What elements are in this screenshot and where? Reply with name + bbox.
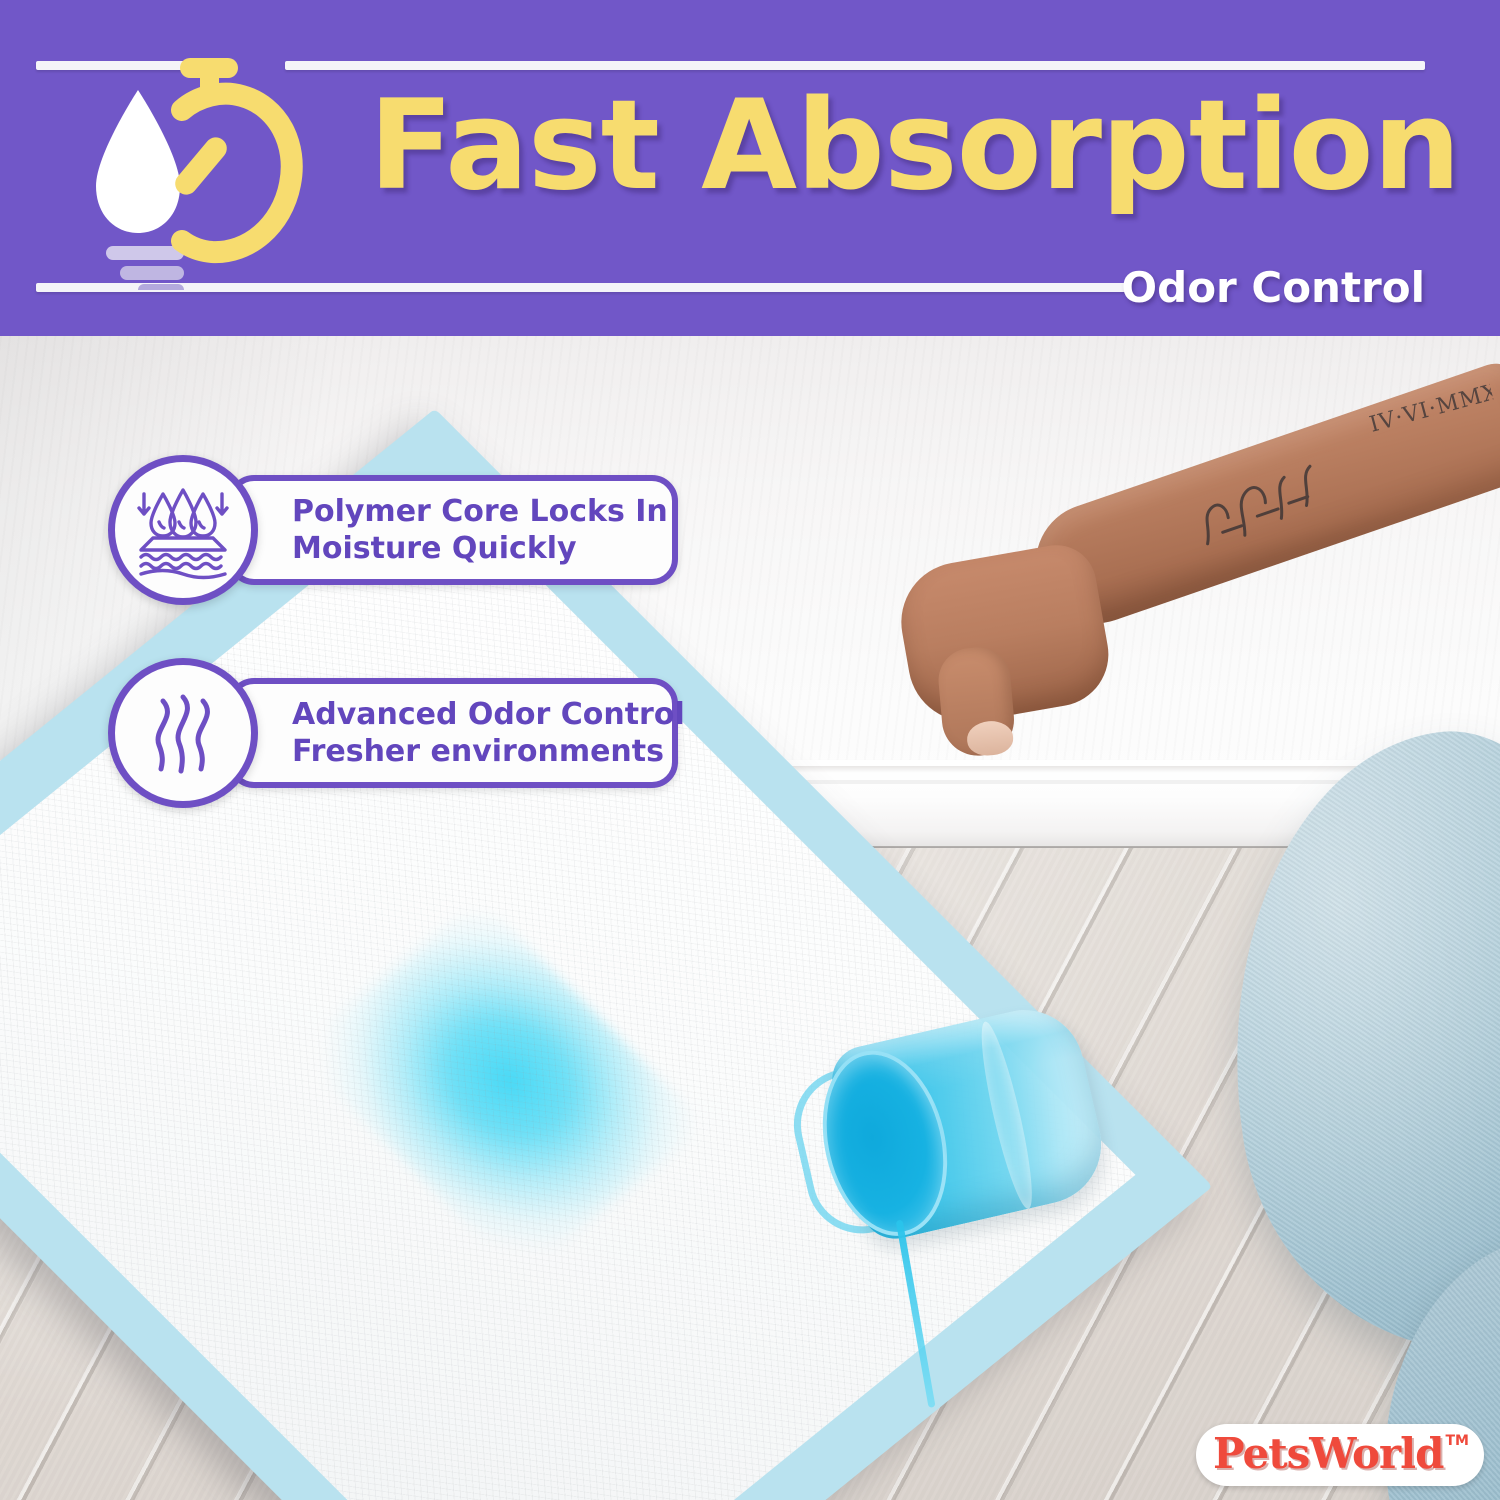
top-rule-right	[285, 61, 1425, 70]
feature-badge-polymer-core[interactable]: Polymer Core Locks In Moisture Quickly	[108, 455, 678, 605]
trademark-symbol: TM	[1445, 1433, 1468, 1449]
feature-badge-icon-circle	[108, 455, 258, 605]
banner-title: Fast Absorption	[360, 84, 1460, 208]
feature-badge-line1: Advanced Odor Control	[292, 696, 672, 734]
feature-badge-line2: Fresher environments	[292, 733, 672, 771]
brand-logo: PetsWorld TM	[1196, 1424, 1484, 1486]
absorbed-liquid-stain	[293, 899, 707, 1277]
feature-badge-pill: Polymer Core Locks In Moisture Quickly	[228, 475, 678, 585]
feature-badge-icon-circle	[108, 658, 258, 808]
pitcher-highlight	[973, 1019, 1042, 1212]
droplets-absorbing-layers-icon	[131, 478, 235, 582]
feature-badge-pill: Advanced Odor Control Fresher environmen…	[228, 678, 678, 788]
feature-badge-odor-control[interactable]: Advanced Odor Control Fresher environmen…	[108, 658, 678, 808]
banner-subtitle: Odor Control	[1121, 263, 1425, 312]
header-banner: Fast Absorption Odor Control	[0, 0, 1500, 336]
feature-badge-line2: Moisture Quickly	[292, 530, 672, 568]
product-feature-image: IV·VI·MMXXII	[0, 0, 1500, 1500]
water-drop-stopwatch-icon	[82, 58, 304, 290]
odor-waves-icon	[133, 683, 233, 783]
feature-badge-line1: Polymer Core Locks In	[292, 493, 672, 531]
brand-name: PetsWorld	[1213, 1429, 1443, 1478]
